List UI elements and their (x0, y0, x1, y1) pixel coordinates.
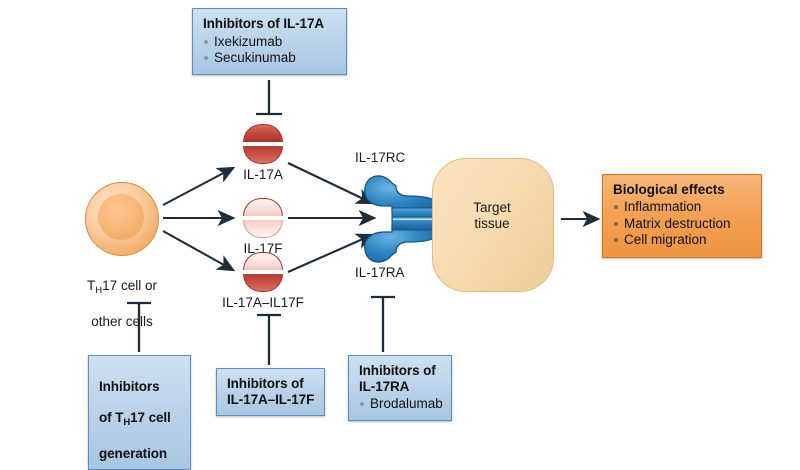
cytokine-il17a (243, 124, 283, 164)
list-item[interactable]: Inflammation (613, 199, 752, 216)
box-title: Inhibitors of IL-17A–IL-17F (227, 376, 315, 407)
receptor-il17rc-label: IL-17RC (355, 150, 405, 166)
cytokine-top-half (243, 198, 283, 216)
box-item-list: Ixekizumab Secukinumab (203, 34, 337, 66)
cytokine-il17a-label: IL-17A (223, 167, 303, 183)
th17-label-line3: other cells (91, 314, 153, 329)
list-item[interactable]: Matrix destruction (613, 216, 752, 233)
cytokine-il17a-il17f (243, 252, 283, 292)
cytokine-top-half (243, 124, 283, 142)
title-line1: Inhibitors (99, 379, 160, 394)
list-item[interactable]: Ixekizumab (203, 34, 337, 50)
effects-list: Inflammation Matrix destruction Cell mig… (613, 199, 752, 249)
box-title: Inhibitors of TH17 cell generation (99, 363, 181, 461)
receptor-il17ra-label: IL-17RA (355, 265, 405, 281)
th17-label-line2: 17 cell or (102, 278, 157, 293)
cytokine-bottom-half (243, 146, 283, 164)
target-tissue-label: Target tissue (432, 200, 552, 232)
cytokine-bottom-half (243, 274, 283, 292)
title-line3: generation (99, 446, 167, 461)
cytokine-bottom-half (243, 220, 283, 238)
target-label-line2: tissue (474, 216, 509, 231)
cell-nucleus (98, 194, 144, 240)
list-item[interactable]: Cell migration (613, 232, 752, 249)
cytokine-il17f (243, 198, 283, 238)
box-title: Inhibitors of IL-17A (203, 16, 337, 32)
effects-title: Biological effects (613, 182, 752, 198)
box-title: Inhibitors of IL-17RA (359, 363, 442, 394)
th17-cell-label: TH17 cell or other cells (72, 262, 172, 329)
biological-effects-box[interactable]: Biological effects Inflammation Matrix d… (602, 174, 762, 258)
th17-cell (85, 182, 159, 256)
box-item-list: Brodalumab (359, 396, 442, 412)
cytokine-top-half (243, 252, 283, 270)
target-label-line1: Target (473, 200, 511, 215)
inhibitors-of-th17-generation-box[interactable]: Inhibitors of TH17 cell generation (88, 355, 191, 470)
inhibitors-of-il17a-il17f-box[interactable]: Inhibitors of IL-17A–IL-17F (216, 368, 325, 416)
cytokine-il17a-il17f-label: IL-17A–IL17F (198, 295, 328, 311)
title-line2-pre: of T (99, 410, 123, 425)
title-line2-post: 17 cell (130, 410, 171, 425)
inhibitors-of-il17a-box[interactable]: Inhibitors of IL-17A Ixekizumab Secukinu… (192, 8, 347, 75)
pathway-diagram: Inhibitors of IL-17A Ixekizumab Secukinu… (0, 0, 800, 431)
inhibitors-of-il17ra-box[interactable]: Inhibitors of IL-17RA Brodalumab (348, 355, 452, 421)
list-item[interactable]: Secukinumab (203, 50, 337, 66)
list-item[interactable]: Brodalumab (359, 396, 442, 412)
